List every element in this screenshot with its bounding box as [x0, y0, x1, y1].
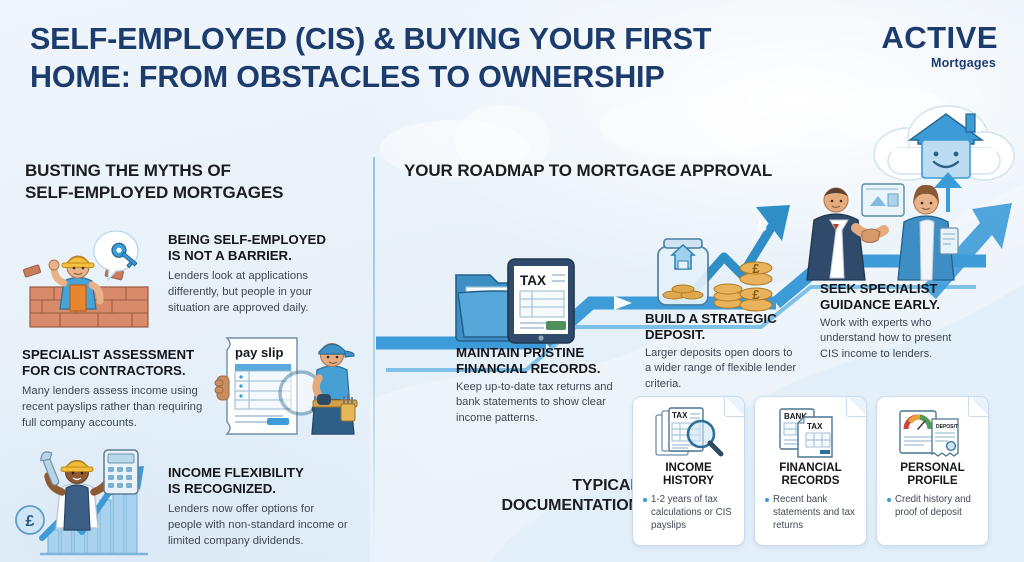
roadmap-step-2-title-line-1: BUILD A STRATEGIC	[645, 311, 777, 326]
svg-text:£: £	[752, 287, 760, 302]
myth-item-1-title-line-1: BEING SELF-EMPLOYED	[168, 232, 326, 247]
page-title-line-2: HOME: FROM OBSTACLES TO OWNERSHIP	[30, 60, 664, 94]
brand-logo-wordmark: ACTIVE	[818, 22, 998, 53]
documentation-card-2-bullet: Recent bank statements and tax returns	[763, 493, 858, 532]
documentation-card-3-bullet-text: Credit history and proof of deposit	[895, 493, 978, 519]
myth-item-2-title: SPECIALIST ASSESSMENT FOR CIS CONTRACTOR…	[22, 347, 218, 379]
myth-item-3: INCOME FLEXIBILITY IS RECOGNIZED. Lender…	[168, 465, 348, 549]
documentation-card-3-title-line-2: PROFILE	[907, 474, 957, 487]
left-panel-heading: BUSTING THE MYTHS OF SELF-EMPLOYED MORTG…	[25, 160, 365, 203]
documentation-card-3-title-line-1: PERSONAL	[900, 461, 964, 474]
payslip-label: pay slip	[235, 345, 283, 360]
roadmap-step-3-body: Work with experts who understand how to …	[820, 316, 970, 363]
header: SELF-EMPLOYED (CIS) & BUYING YOUR FIRST …	[30, 20, 820, 97]
documentation-card-2-title-line-1: FINANCIAL	[779, 461, 841, 474]
myth-item-1-title: BEING SELF-EMPLOYED IS NOT A BARRIER.	[168, 232, 348, 264]
bullet-dot-icon	[887, 498, 891, 502]
svg-text:£: £	[752, 261, 760, 276]
myth-item-2: SPECIALIST ASSESSMENT FOR CIS CONTRACTOR…	[22, 347, 218, 431]
documentation-cards: TAX INCOME HISTORY 1-2 ye	[632, 396, 989, 546]
myth-item-3-title-line-1: INCOME FLEXIBILITY	[168, 465, 304, 480]
documentation-card-personal-profile[interactable]: DEPOSIT PERSONAL PROFILE Credit history …	[876, 396, 989, 546]
roadmap-step-2-title: BUILD A STRATEGIC DEPOSIT.	[645, 311, 797, 343]
documentation-label-line-2: DOCUMENTATION	[501, 497, 640, 514]
documentation-card-1-bullet: 1-2 years of tax calculations or CIS pay…	[641, 493, 736, 532]
worker-calculator-growth-chart-icon: £	[8, 448, 168, 562]
documentation-card-3-bullet: Credit history and proof of deposit	[885, 493, 980, 519]
documentation-card-1-title-line-2: HISTORY	[663, 474, 714, 487]
documentation-card-income-history[interactable]: TAX INCOME HISTORY 1-2 ye	[632, 396, 745, 546]
payslip-magnifier-worker-icon: pay slip	[205, 330, 365, 442]
myth-item-3-body: Lenders now offer options for people wit…	[168, 501, 348, 549]
bullet-dot-icon	[765, 498, 769, 502]
roadmap-step-2: BUILD A STRATEGIC DEPOSIT. Larger deposi…	[645, 311, 797, 393]
brand-logo-text: ACTIVE	[881, 20, 998, 55]
roadmap-step-3-title-line-1: SEEK SPECIALIST	[820, 281, 937, 296]
documentation-card-2-title-line-2: RECORDS	[782, 474, 840, 487]
roadmap-step-3-title-line-2: GUIDANCE EARLY.	[820, 297, 940, 312]
brand-logo: ACTIVE Mortgages	[818, 22, 998, 70]
myth-item-1-body: Lenders look at applications differently…	[168, 268, 348, 316]
roadmap-step-1-title-line-2: FINANCIAL RECORDS.	[456, 361, 600, 376]
roadmap-step-1-title: MAINTAIN PRISTINE FINANCIAL RECORDS.	[456, 345, 634, 377]
bank-tax-statements-icon: BANK TAX	[763, 405, 858, 461]
builder-brick-wall-key-icon	[20, 215, 165, 330]
card-tax-label-2: TAX	[807, 422, 823, 431]
left-panel-heading-line-2: SELF-EMPLOYED MORTGAGES	[25, 183, 283, 202]
savings-jar-coins-arrow-icon: £ £ £	[650, 195, 815, 313]
myth-item-3-title: INCOME FLEXIBILITY IS RECOGNIZED.	[168, 465, 348, 497]
documentation-label-line-1: TYPICAL	[572, 477, 640, 494]
right-panel-heading: YOUR ROADMAP TO MORTGAGE APPROVAL	[404, 161, 772, 181]
roadmap-step-1-body: Keep up-to-date tax returns and bank sta…	[456, 380, 634, 427]
documentation-card-1-bullet-text: 1-2 years of tax calculations or CIS pay…	[651, 493, 734, 532]
page-title-line-1: SELF-EMPLOYED (CIS) & BUYING YOUR FIRST	[30, 22, 711, 56]
roadmap-step-3-title: SEEK SPECIALIST GUIDANCE EARLY.	[820, 281, 970, 313]
brand-logo-subtitle: Mortgages	[818, 56, 996, 70]
documentation-card-1-title: INCOME HISTORY	[641, 461, 736, 488]
tablet-tax-label: TAX	[520, 273, 546, 288]
myth-item-1: BEING SELF-EMPLOYED IS NOT A BARRIER. Le…	[168, 232, 348, 316]
myth-item-2-title-line-1: SPECIALIST ASSESSMENT	[22, 347, 194, 362]
documentation-card-2-bullet-text: Recent bank statements and tax returns	[773, 493, 856, 532]
bullet-dot-icon	[643, 498, 647, 502]
documentation-card-3-title: PERSONAL PROFILE	[885, 461, 980, 488]
roadmap-step-2-body: Larger deposits open doors to a wider ra…	[645, 346, 797, 393]
column-divider	[373, 157, 375, 547]
roadmap-step-2-title-line-2: DEPOSIT.	[645, 327, 705, 342]
infographic-canvas: SELF-EMPLOYED (CIS) & BUYING YOUR FIRST …	[0, 0, 1024, 562]
roadmap-step-3: SEEK SPECIALIST GUIDANCE EARLY. Work wit…	[820, 281, 970, 363]
myth-item-2-title-line-2: FOR CIS CONTRACTORS.	[22, 363, 186, 378]
roadmap-step-1: MAINTAIN PRISTINE FINANCIAL RECORDS. Kee…	[456, 345, 634, 427]
left-panel: BUSTING THE MYTHS OF SELF-EMPLOYED MORTG…	[25, 160, 365, 203]
documentation-card-2-title: FINANCIAL RECORDS	[763, 461, 858, 488]
pound-symbol-chart: £	[26, 513, 35, 530]
folder-tablet-tax-icon: TAX	[452, 253, 582, 345]
documentation-label: TYPICAL DOCUMENTATION	[455, 476, 640, 516]
credit-gauge-deposit-receipt-icon: DEPOSIT	[885, 405, 980, 461]
documentation-card-financial-records[interactable]: BANK TAX FINANCIAL RECORDS	[754, 396, 867, 546]
handshake-advisers-icon	[800, 176, 960, 280]
myth-item-3-title-line-2: IS RECOGNIZED.	[168, 481, 276, 496]
pound-symbol-arrow: £	[757, 216, 767, 235]
page-title: SELF-EMPLOYED (CIS) & BUYING YOUR FIRST …	[30, 20, 820, 97]
myth-item-2-body: Many lenders assess income using recent …	[22, 383, 218, 431]
roadmap-step-1-title-line-1: MAINTAIN PRISTINE	[456, 345, 584, 360]
tax-documents-magnifier-icon: TAX	[641, 405, 736, 461]
card-tax-label: TAX	[672, 411, 688, 420]
card-deposit-label: DEPOSIT	[936, 424, 958, 430]
myth-item-1-title-line-2: IS NOT A BARRIER.	[168, 248, 292, 263]
left-panel-heading-line-1: BUSTING THE MYTHS OF	[25, 161, 231, 180]
documentation-card-1-title-line-1: INCOME	[665, 461, 711, 474]
